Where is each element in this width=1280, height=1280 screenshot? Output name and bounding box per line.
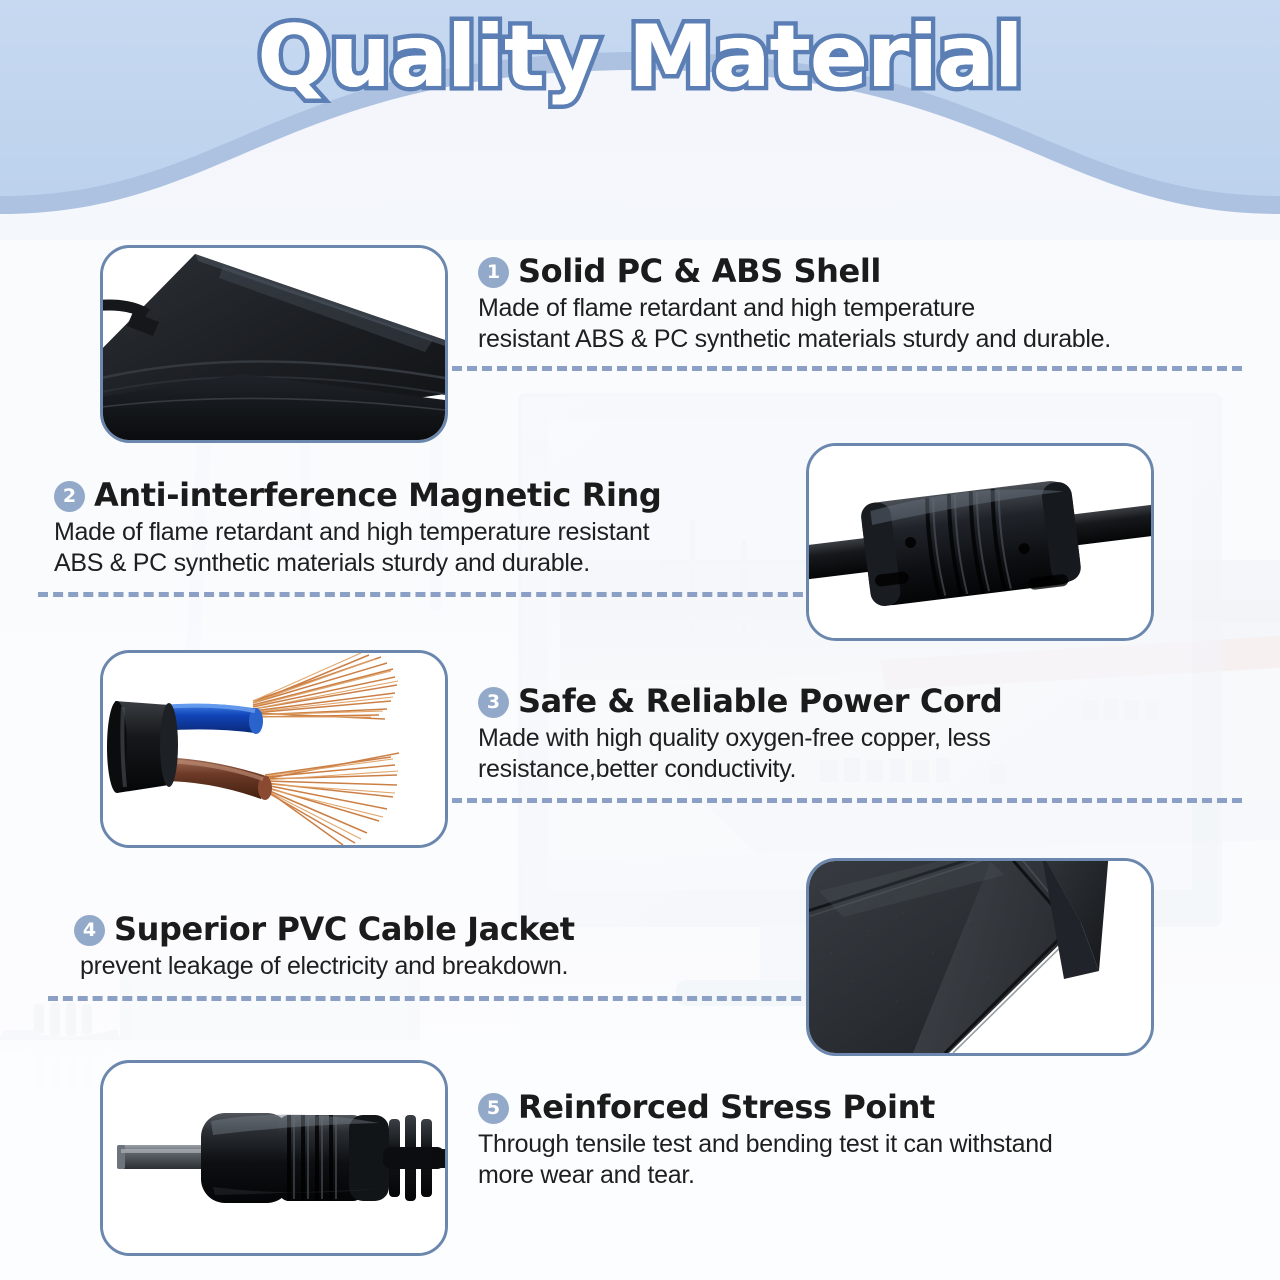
feature-3-image-card	[100, 650, 448, 848]
feature-4-number-badge: 4	[74, 915, 105, 946]
feature-2-divider	[38, 592, 818, 597]
feature-4-text: 4 Superior PVC Cable Jacket prevent leak…	[74, 910, 814, 982]
feature-2-heading: 2 Anti-interference Magnetic Ring	[54, 476, 814, 514]
feature-5-title: Reinforced Stress Point	[518, 1088, 935, 1126]
feature-4-heading: 4 Superior PVC Cable Jacket	[74, 910, 814, 948]
feature-3-heading: 3 Safe & Reliable Power Cord	[478, 682, 1256, 720]
feature-3-title: Safe & Reliable Power Cord	[518, 682, 1002, 720]
feature-2-description: Made of flame retardant and high tempera…	[54, 517, 814, 578]
feature-2-number-badge: 2	[54, 481, 85, 512]
feature-3-text: 3 Safe & Reliable Power Cord Made with h…	[478, 682, 1256, 784]
feature-3-description: Made with high quality oxygen-free coppe…	[478, 723, 1256, 784]
copper-wire-cord-photo	[103, 653, 445, 845]
feature-4-divider	[48, 996, 816, 1001]
feature-4-title: Superior PVC Cable Jacket	[114, 910, 575, 948]
feature-1-image-card	[100, 245, 448, 443]
feature-1-title: Solid PC & ABS Shell	[518, 252, 881, 290]
feature-4-description: prevent leakage of electricity and break…	[80, 951, 814, 982]
feature-1-number-badge: 1	[478, 257, 509, 288]
feature-5-text: 5 Reinforced Stress Point Through tensil…	[478, 1088, 1256, 1190]
feature-5-heading: 5 Reinforced Stress Point	[478, 1088, 1256, 1126]
feature-2-image-card	[806, 443, 1154, 641]
dc-plug-strain-relief-photo	[103, 1063, 445, 1253]
feature-2-title: Anti-interference Magnetic Ring	[94, 476, 661, 514]
page-title-stroke: Quality Material	[0, 10, 1280, 105]
infographic-page: Quality Material Quality Material	[0, 0, 1280, 1280]
feature-2-text: 2 Anti-interference Magnetic Ring Made o…	[54, 476, 814, 578]
header-band: Quality Material Quality Material	[0, 0, 1280, 250]
magnetic-ferrite-ring-photo	[809, 446, 1151, 638]
feature-1-description: Made of flame retardant and high tempera…	[478, 293, 1256, 354]
feature-3-divider	[452, 798, 1242, 803]
feature-4-image-card	[806, 858, 1154, 1056]
power-adapter-brick-photo	[103, 248, 445, 440]
feature-3-number-badge: 3	[478, 687, 509, 718]
feature-5-image-card	[100, 1060, 448, 1256]
adapter-corner-jacket-photo	[809, 861, 1151, 1053]
feature-1-heading: 1 Solid PC & ABS Shell	[478, 252, 1256, 290]
feature-5-number-badge: 5	[478, 1093, 509, 1124]
feature-1-divider	[452, 366, 1242, 371]
feature-5-description: Through tensile test and bending test it…	[478, 1129, 1256, 1190]
feature-1-text: 1 Solid PC & ABS Shell Made of flame ret…	[478, 252, 1256, 354]
